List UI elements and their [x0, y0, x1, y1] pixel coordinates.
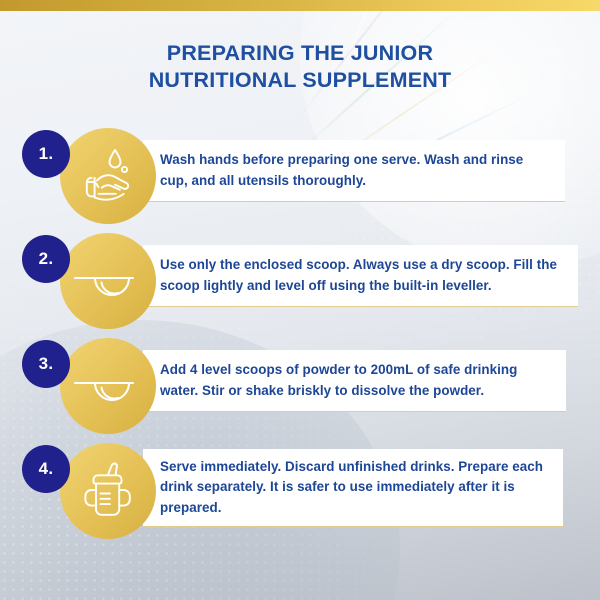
step-text: Use only the enclosed scoop. Always use …: [160, 255, 560, 296]
step-number-badge: 3.: [22, 340, 70, 388]
step-text: Add 4 level scoops of powder to 200mL of…: [160, 360, 548, 401]
step-number-badge: 2.: [22, 235, 70, 283]
scoop-level-icon: [71, 364, 145, 408]
step-number-badge: 1.: [22, 130, 70, 178]
page-title: PREPARING THE JUNIOR NUTRITIONAL SUPPLEM…: [0, 40, 600, 94]
step-number: 4.: [39, 459, 54, 479]
sippy-cup-icon: [76, 460, 140, 522]
step-number: 1.: [39, 144, 54, 164]
step-number: 2.: [39, 249, 54, 269]
step-number: 3.: [39, 354, 54, 374]
page-title-line-2: NUTRITIONAL SUPPLEMENT: [0, 67, 600, 94]
step-icon-disc: [60, 443, 156, 539]
step-text: Wash hands before preparing one serve. W…: [160, 150, 547, 191]
scoop-level-icon: [71, 259, 145, 303]
infographic-poster: PREPARING THE JUNIOR NUTRITIONAL SUPPLEM…: [0, 0, 600, 600]
step-icon-disc: [60, 338, 156, 434]
hand-wash-icon: [77, 147, 139, 205]
step-text-panel: Use only the enclosed scoop. Always use …: [143, 245, 578, 307]
page-title-line-1: PREPARING THE JUNIOR: [0, 40, 600, 67]
step-text-panel: Serve immediately. Discard unfinished dr…: [143, 449, 563, 527]
step-text-panel: Wash hands before preparing one serve. W…: [143, 140, 565, 202]
step-text-panel: Add 4 level scoops of powder to 200mL of…: [143, 350, 566, 412]
top-gold-bar: [0, 0, 600, 11]
step-icon-disc: [60, 128, 156, 224]
step-icon-disc: [60, 233, 156, 329]
step-text: Serve immediately. Discard unfinished dr…: [160, 457, 545, 519]
step-number-badge: 4.: [22, 445, 70, 493]
